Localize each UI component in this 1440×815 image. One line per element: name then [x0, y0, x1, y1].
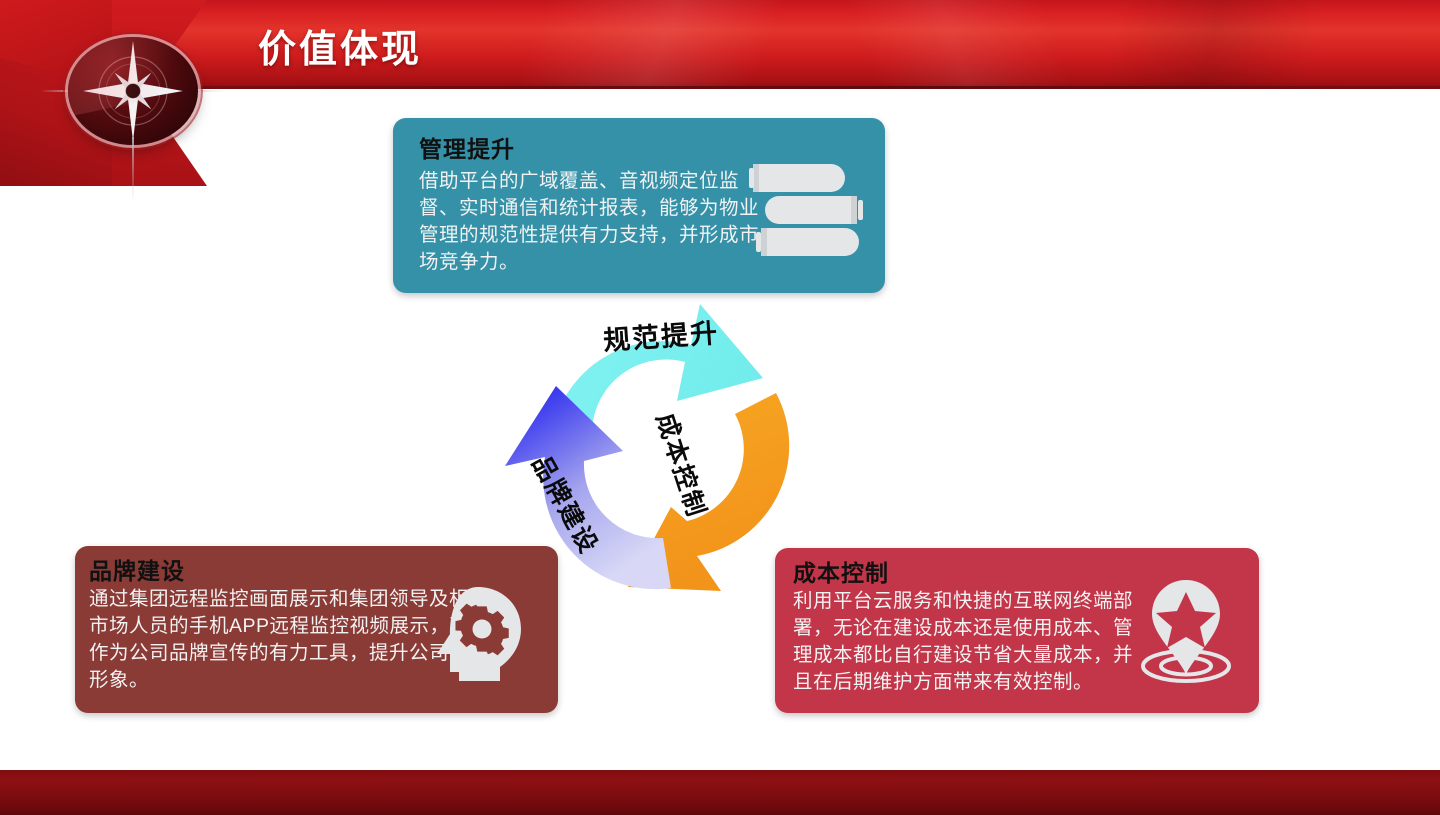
card-management-body: 借助平台的广域覆盖、音视频定位监督、实时通信和统计报表，能够为物业管理的规范性提… [419, 168, 759, 276]
compass-rose-emblem [68, 37, 198, 145]
card-cost-body: 利用平台云服务和快捷的互联网终端部署，无论在建设成本还是使用成本、管理成本都比自… [793, 588, 1143, 696]
page-title: 价值体现 [258, 18, 422, 73]
card-management[interactable]: 管理提升 借助平台的广域覆盖、音视频定位监督、实时通信和统计报表，能够为物业管理… [393, 118, 885, 293]
footer-banner [0, 770, 1440, 815]
card-management-title: 管理提升 [419, 130, 515, 164]
slide-canvas: 价值体现 管理提升 借助平台的广域覆盖、音视频定位监督、实时通信和统计报表，能够… [0, 0, 1440, 815]
compass-star-icon [68, 37, 198, 145]
head-gear-icon [426, 584, 530, 688]
emblem-disc [68, 37, 198, 145]
emblem-tail [132, 137, 134, 203]
card-brand[interactable]: 品牌建设 通过集团远程监控画面展示和集团领导及相关市场人员的手机APP远程监控视… [75, 546, 558, 713]
map-pin-star-icon [1131, 576, 1241, 688]
books-icon [747, 160, 867, 260]
cycle-label-standard: 规范提升 [602, 311, 720, 358]
header-banner-edge [150, 86, 1440, 89]
card-cost[interactable]: 成本控制 利用平台云服务和快捷的互联网终端部署，无论在建设成本还是使用成本、管理… [775, 548, 1259, 713]
card-cost-title: 成本控制 [793, 554, 889, 588]
card-brand-title: 品牌建设 [89, 552, 185, 586]
